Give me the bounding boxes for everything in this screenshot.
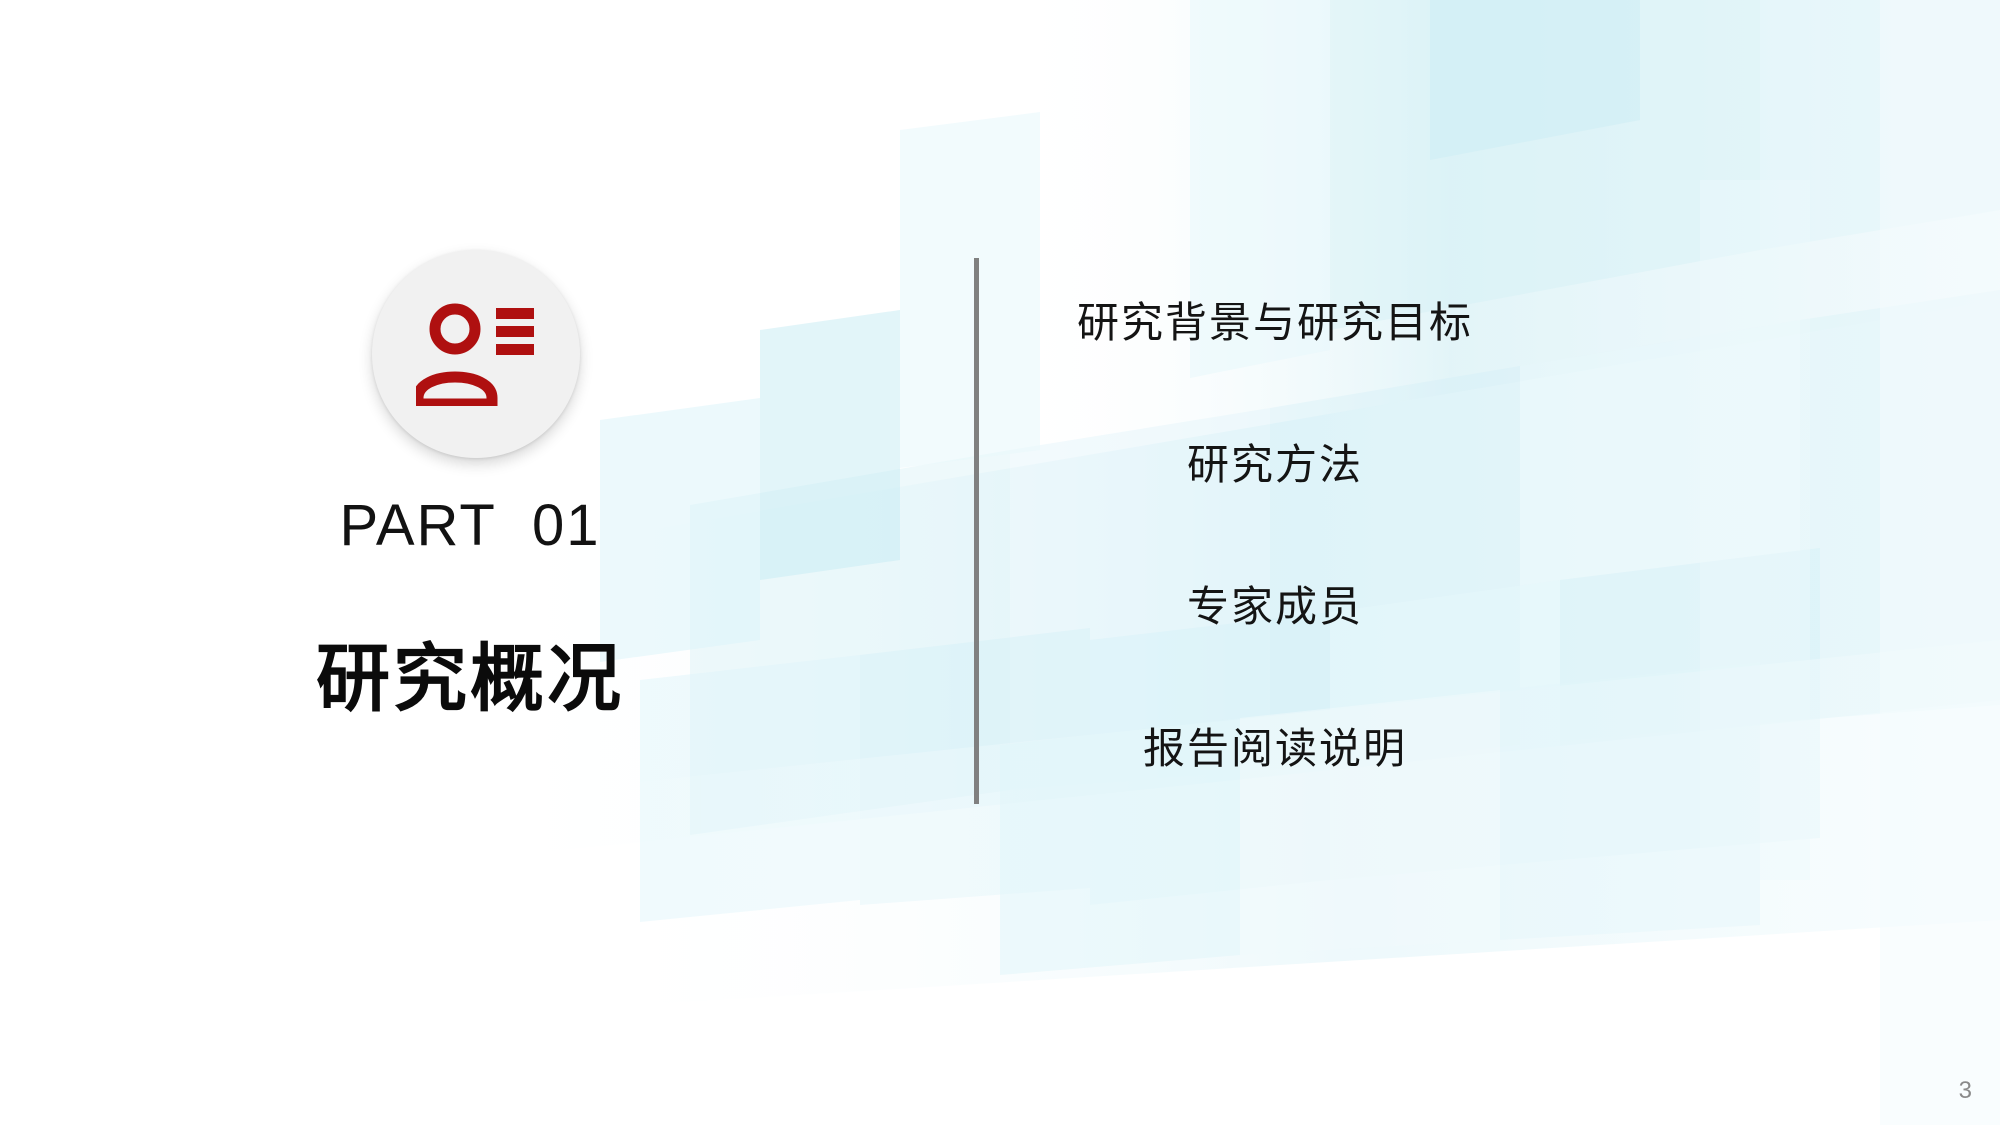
section-title: 研究概况 bbox=[0, 642, 940, 716]
part-label: PART 01 bbox=[0, 497, 940, 555]
slide-root: PART 01 研究概况 研究背景与研究目标 研究方法 专家成员 报告阅读说明 … bbox=[0, 0, 2000, 1125]
agenda-item-3[interactable]: 专家成员 bbox=[975, 582, 1575, 632]
agenda-item-2[interactable]: 研究方法 bbox=[975, 440, 1575, 490]
agenda-list: 研究背景与研究目标 研究方法 专家成员 报告阅读说明 bbox=[975, 258, 2000, 804]
contact-person-icon bbox=[416, 302, 536, 406]
page-number: 3 bbox=[1959, 1077, 1972, 1105]
agenda-item-1[interactable]: 研究背景与研究目标 bbox=[975, 298, 1575, 348]
left-column: PART 01 研究概况 bbox=[0, 0, 975, 1125]
agenda-item-4[interactable]: 报告阅读说明 bbox=[975, 724, 1575, 774]
part-icon-circle bbox=[372, 250, 580, 458]
